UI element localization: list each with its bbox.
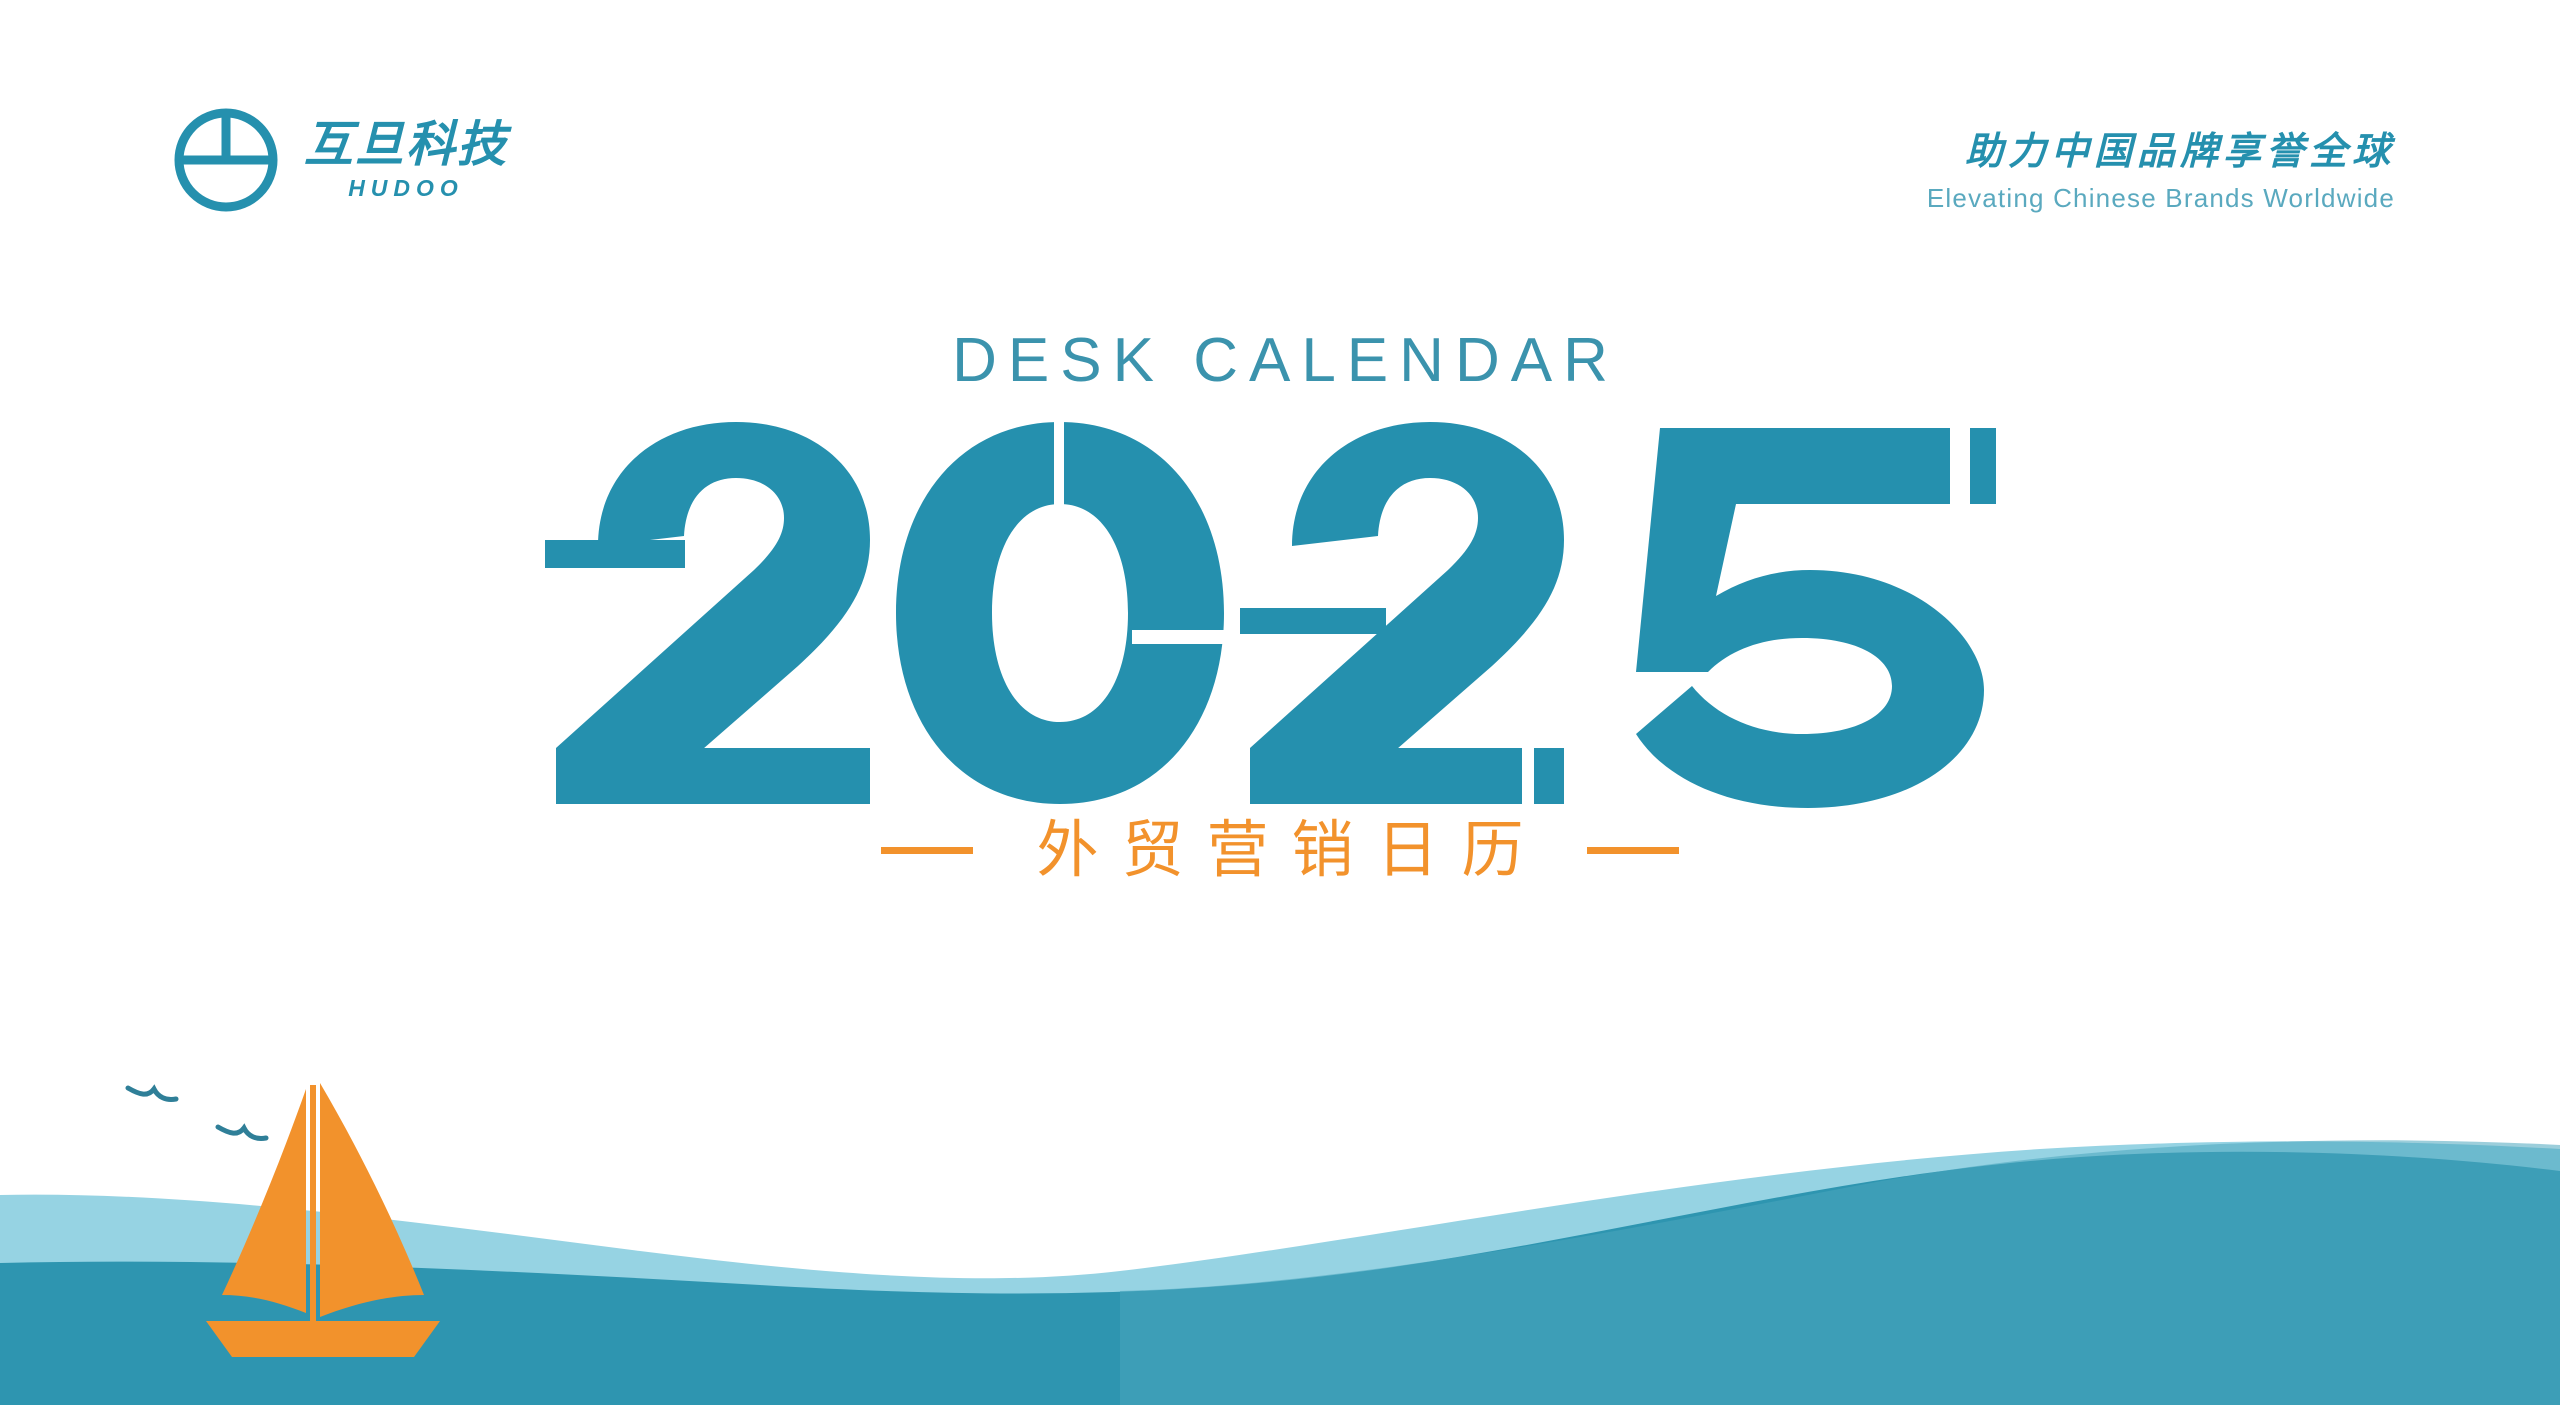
hudoo-circle-mark-icon <box>170 104 282 216</box>
glyph-two-second <box>1240 422 1564 804</box>
glyph-two-first <box>545 422 870 804</box>
hero-block: DESK CALENDAR <box>0 330 2560 884</box>
five-cut-vertical <box>1960 428 1970 504</box>
tagline-chinese: 助力中国品牌享誉全球 <box>1927 132 2395 174</box>
brand-wordmark: 互旦科技 HUDOO <box>304 121 508 200</box>
tagline-block: 助力中国品牌享誉全球 Elevating Chinese Brands Worl… <box>1927 132 2395 212</box>
subtitle-rule-right <box>1587 847 1679 854</box>
calendar-cover-page: 互旦科技 HUDOO 助力中国品牌享誉全球 Elevating Chinese … <box>0 0 2560 1405</box>
zero-cut-vertical <box>1054 418 1064 540</box>
brand-lockup[interactable]: 互旦科技 HUDOO <box>170 104 508 216</box>
hero-year-wrap <box>0 418 2560 808</box>
zero-cut-horizontal <box>1132 630 1228 644</box>
brand-name-en: HUDOO <box>348 177 464 200</box>
hero-subtitle-chinese: 外贸营销日历 <box>1013 816 1546 884</box>
two-second-cut-vertical <box>1522 740 1534 808</box>
hero-year-2025 <box>540 418 2020 808</box>
glyph-five <box>1636 428 1984 808</box>
subtitle-rule-left <box>881 847 973 854</box>
tagline-english: Elevating Chinese Brands Worldwide <box>1927 184 2395 213</box>
hero-eyebrow-desk-calendar: DESK CALENDAR <box>0 330 2560 392</box>
brand-name-cn: 互旦科技 <box>304 121 508 170</box>
wave-decoration <box>0 1045 2560 1405</box>
hero-subtitle-row: 外贸营销日历 <box>0 816 2560 884</box>
